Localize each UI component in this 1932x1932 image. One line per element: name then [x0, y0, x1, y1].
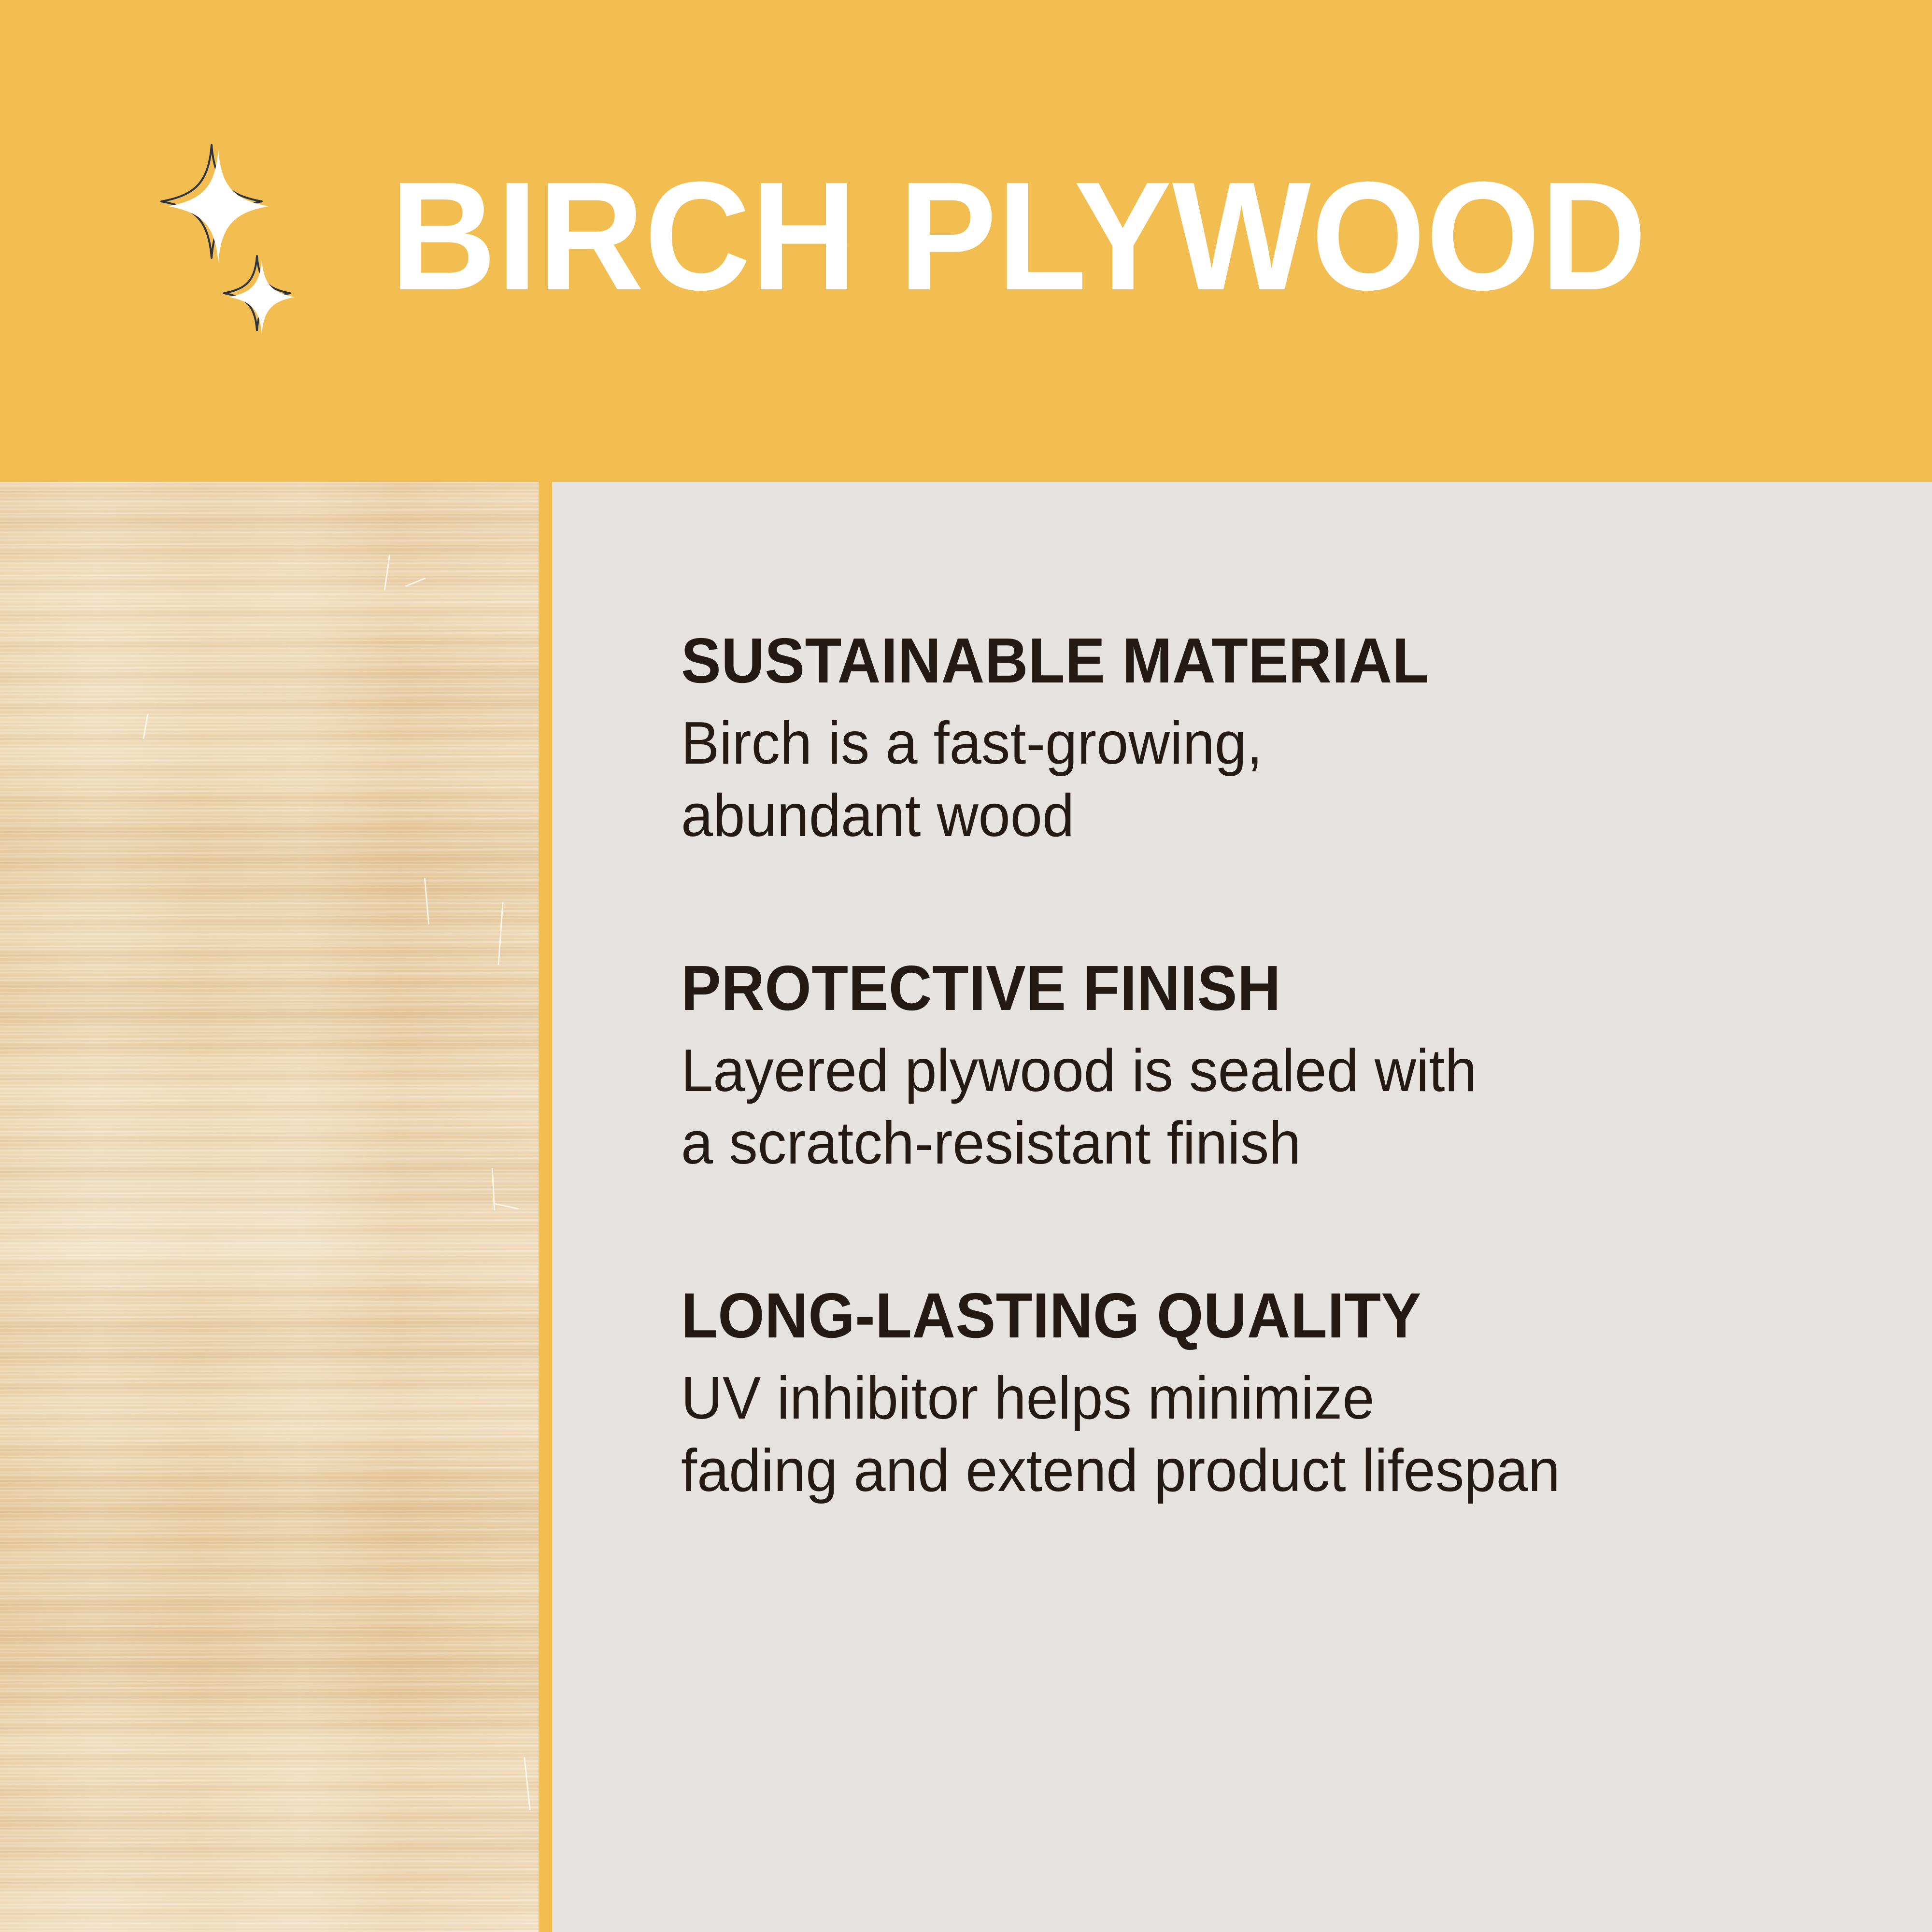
- feature-list: SUSTAINABLE MATERIAL Birch is a fast-gro…: [681, 627, 1889, 1507]
- accent-divider-strip: [539, 482, 552, 1932]
- feature-description-line: fading and extend product lifespan: [681, 1435, 1840, 1507]
- wood-grain-fine: [0, 482, 539, 1932]
- feature-description-line: Birch is a fast-growing,: [681, 707, 1840, 780]
- page-title: BIRCH PLYWOOD: [390, 154, 1647, 318]
- feature-block: SUSTAINABLE MATERIAL Birch is a fast-gro…: [681, 627, 1889, 852]
- feature-heading: SUSTAINABLE MATERIAL: [681, 627, 1816, 695]
- feature-description: UV inhibitor helps minimize fading and e…: [681, 1362, 1840, 1507]
- feature-block: LONG-LASTING QUALITY UV inhibitor helps …: [681, 1282, 1889, 1507]
- feature-block: PROTECTIVE FINISH Layered plywood is sea…: [681, 954, 1889, 1179]
- feature-description-line: a scratch-resistant finish: [681, 1107, 1840, 1179]
- sparkle-icon-small: [229, 260, 295, 334]
- feature-description-line: Layered plywood is sealed with: [681, 1035, 1840, 1107]
- sparkle-icon-large: [168, 150, 269, 263]
- feature-description-line: UV inhibitor helps minimize: [681, 1362, 1840, 1435]
- feature-description: Layered plywood is sealed with a scratch…: [681, 1035, 1840, 1179]
- product-feature-infographic: BIRCH PLYWOOD SUSTAINABLE MATERIAL Birch…: [0, 0, 1932, 1932]
- sparkle-decoration-group: [155, 135, 314, 328]
- wood-texture-panel: [0, 482, 539, 1932]
- feature-description: Birch is a fast-growing, abundant wood: [681, 707, 1840, 852]
- feature-description-line: abundant wood: [681, 780, 1840, 852]
- feature-heading: PROTECTIVE FINISH: [681, 954, 1816, 1022]
- feature-content-panel: SUSTAINABLE MATERIAL Birch is a fast-gro…: [552, 482, 1932, 1932]
- feature-heading: LONG-LASTING QUALITY: [681, 1282, 1816, 1350]
